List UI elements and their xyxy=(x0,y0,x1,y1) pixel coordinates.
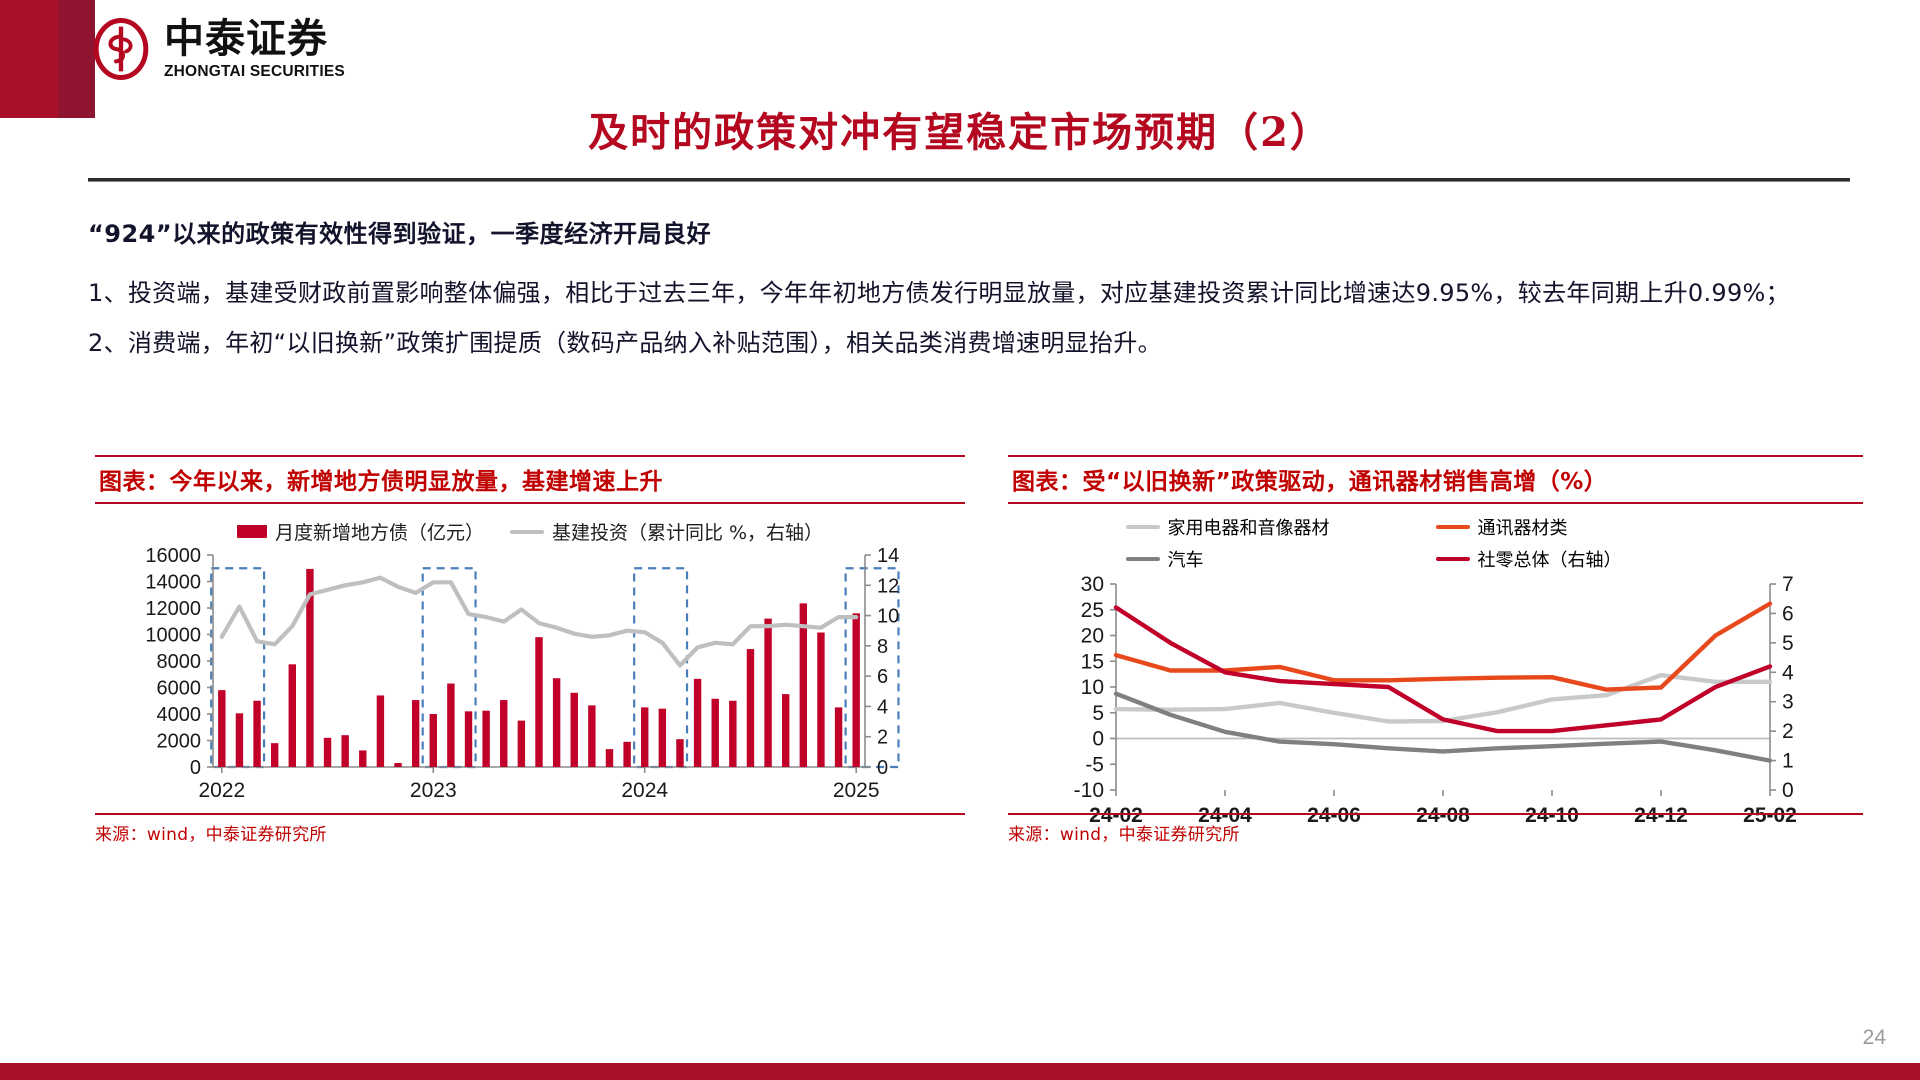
y-axis-tick-label: 20 xyxy=(1081,625,1104,648)
legend-label-automobile: 汽车 xyxy=(1168,546,1204,572)
x-axis-tick-label: 2023 xyxy=(410,779,457,802)
bar xyxy=(236,713,243,767)
chart-legend-right: 家用电器和音像器材 通讯器材类 汽车 社零总体（右轴） xyxy=(1008,514,1863,572)
legend-label-communication-equipment: 通讯器材类 xyxy=(1478,514,1568,540)
legend-swatch-line xyxy=(1436,525,1470,529)
y-axis-tick-label: 6000 xyxy=(157,678,202,700)
brand-name-cn: 中泰证券 xyxy=(164,19,345,59)
panel-source-right: 来源：wind，中泰证券研究所 xyxy=(1008,820,1863,845)
bar xyxy=(606,749,613,767)
brand-logo: 中泰证券 ZHONGTAI SECURITIES xyxy=(90,18,345,80)
bar xyxy=(764,619,771,767)
y-axis-tick-label: 16000 xyxy=(145,545,201,567)
y2-axis-tick-label: 6 xyxy=(877,666,888,688)
y-axis-tick-label: 12000 xyxy=(145,598,201,620)
y2-axis-tick-label: 7 xyxy=(1782,573,1794,596)
y-axis-tick-label: 2000 xyxy=(157,731,202,753)
paragraph-investment: 1、投资端，基建受财政前置影响整体偏强，相比于过去三年，今年年初地方债发行明显放… xyxy=(88,271,1850,315)
legend-swatch-line xyxy=(1126,557,1160,561)
y-axis-tick-label: 4000 xyxy=(157,704,202,726)
bar xyxy=(729,701,736,767)
y2-axis-tick-label: 14 xyxy=(877,545,899,567)
y-axis-tick-label: 5 xyxy=(1092,702,1104,725)
chart-canvas-left: 0200040006000800010000120001400016000024… xyxy=(95,545,965,820)
panel-source-left: 来源：wind，中泰证券研究所 xyxy=(95,820,965,845)
y2-axis-tick-label: 3 xyxy=(1782,691,1794,714)
panel-title-right: 图表：受“以旧换新”政策驱动，通讯器材销售高增（%） xyxy=(1012,462,1859,496)
panel-title-box-right: 图表：受“以旧换新”政策驱动，通讯器材销售高增（%） xyxy=(1008,455,1863,504)
bar xyxy=(394,763,401,767)
y-axis-tick-label: -5 xyxy=(1085,753,1104,776)
legend-swatch-line xyxy=(510,530,544,534)
bar xyxy=(712,699,719,767)
bar xyxy=(553,678,560,767)
bar xyxy=(571,693,578,767)
bar xyxy=(218,690,225,767)
line-series xyxy=(1116,694,1770,761)
y2-axis-tick-label: 6 xyxy=(1782,602,1794,625)
bar xyxy=(289,664,296,767)
bar xyxy=(341,735,348,767)
y-axis-tick-label: 0 xyxy=(1092,728,1104,751)
bar xyxy=(588,705,595,767)
y-axis-tick-label: 10000 xyxy=(145,625,201,647)
brand-name-en: ZHONGTAI SECURITIES xyxy=(164,64,345,80)
bar-line-chart-local-bond: 0200040006000800010000120001400016000024… xyxy=(95,545,965,815)
y-axis-tick-label: 25 xyxy=(1081,599,1104,622)
y2-axis-tick-label: 4 xyxy=(1782,661,1794,684)
legend-item-automobile: 汽车 xyxy=(1126,546,1436,572)
panel-source-box-left: 来源：wind，中泰证券研究所 xyxy=(95,813,965,845)
y-axis-tick-label: -10 xyxy=(1074,779,1104,802)
legend-label-infrastructure-investment: 基建投资（累计同比 %，右轴） xyxy=(552,518,823,545)
y2-axis-tick-label: 0 xyxy=(1782,779,1794,802)
chart-panel-retail-growth: 图表：受“以旧换新”政策驱动，通讯器材销售高增（%） 家用电器和音像器材 通讯器… xyxy=(1008,455,1863,845)
bar xyxy=(377,695,384,767)
bar xyxy=(359,750,366,767)
chart-panel-local-bond: 图表：今年以来，新增地方债明显放量，基建增速上升 月度新增地方债（亿元） 基建投… xyxy=(95,455,965,845)
y2-axis-tick-label: 10 xyxy=(877,606,899,628)
y-axis-tick-label: 14000 xyxy=(145,572,201,594)
bar xyxy=(518,721,525,767)
legend-swatch-line xyxy=(1436,557,1470,561)
bar xyxy=(500,700,507,767)
y2-axis-tick-label: 5 xyxy=(1782,632,1794,655)
bar xyxy=(482,711,489,767)
y2-axis-tick-label: 1 xyxy=(1782,750,1794,773)
panel-source-box-right: 来源：wind，中泰证券研究所 xyxy=(1008,813,1863,845)
y-axis-tick-label: 30 xyxy=(1081,573,1104,596)
x-axis-tick-label: 2024 xyxy=(621,779,668,802)
line-chart-retail-growth: -10-50510152025300123456724-0224-0424-06… xyxy=(1008,572,1863,840)
bar xyxy=(641,707,648,767)
bar xyxy=(430,714,437,767)
y2-axis-tick-label: 2 xyxy=(1782,720,1794,743)
bar xyxy=(535,637,542,767)
y2-axis-tick-label: 8 xyxy=(877,636,888,658)
bar xyxy=(253,701,260,767)
zhongtai-logo-icon xyxy=(90,18,152,80)
title-divider xyxy=(88,178,1850,182)
y-axis-tick-label: 15 xyxy=(1081,650,1104,673)
y2-axis-tick-label: 12 xyxy=(877,575,899,597)
bar xyxy=(782,694,789,767)
page-title: 及时的政策对冲有望稳定市场预期（2） xyxy=(0,100,1920,158)
legend-item-total-retail: 社零总体（右轴） xyxy=(1436,546,1746,572)
x-axis-tick-label: 2025 xyxy=(833,779,880,802)
legend-swatch-line xyxy=(1126,525,1160,529)
x-axis-tick-label: 2022 xyxy=(198,779,245,802)
y2-axis-tick-label: 0 xyxy=(877,757,888,779)
bar xyxy=(412,700,419,767)
bar xyxy=(676,739,683,767)
legend-swatch-bar xyxy=(237,525,267,538)
bar xyxy=(747,649,754,767)
chart-legend-left: 月度新增地方债（亿元） 基建投资（累计同比 %，右轴） xyxy=(95,518,965,545)
bar xyxy=(324,738,331,767)
bar xyxy=(623,742,630,767)
panel-title-left: 图表：今年以来，新增地方债明显放量，基建增速上升 xyxy=(99,462,961,496)
lead-statement: “924”以来的政策有效性得到验证，一季度经济开局良好 xyxy=(88,214,1850,249)
legend-item-communication-equipment: 通讯器材类 xyxy=(1436,514,1746,540)
y-axis-tick-label: 10 xyxy=(1081,676,1104,699)
legend-label-home-appliances: 家用电器和音像器材 xyxy=(1168,514,1330,540)
chart-canvas-right: -10-50510152025300123456724-0224-0424-06… xyxy=(1008,572,1863,845)
bar xyxy=(271,743,278,767)
bar xyxy=(465,711,472,767)
footer-accent-bar xyxy=(0,1063,1920,1080)
body-text-block: “924”以来的政策有效性得到验证，一季度经济开局良好 1、投资端，基建受财政前… xyxy=(88,198,1850,372)
line-series xyxy=(1116,604,1770,690)
bar xyxy=(835,707,842,767)
legend-label-monthly-local-bond: 月度新增地方债（亿元） xyxy=(275,518,484,545)
bar xyxy=(817,633,824,767)
legend-item-monthly-local-bond: 月度新增地方债（亿元） xyxy=(237,518,484,545)
y2-axis-tick-label: 4 xyxy=(877,696,888,718)
legend-item-home-appliances: 家用电器和音像器材 xyxy=(1126,514,1436,540)
paragraph-consumption: 2、消费端，年初“以旧换新”政策扩围提质（数码产品纳入补贴范围），相关品类消费增… xyxy=(88,321,1850,365)
bar xyxy=(659,709,666,767)
page-number: 24 xyxy=(1863,1026,1886,1050)
y-axis-tick-label: 8000 xyxy=(157,651,202,673)
y-axis-tick-label: 0 xyxy=(190,757,201,779)
bar xyxy=(694,679,701,767)
bar xyxy=(447,684,454,767)
legend-item-infrastructure-investment: 基建投资（累计同比 %，右轴） xyxy=(510,518,823,545)
y2-axis-tick-label: 2 xyxy=(877,727,888,749)
panel-title-box-left: 图表：今年以来，新增地方债明显放量，基建增速上升 xyxy=(95,455,965,504)
legend-label-total-retail: 社零总体（右轴） xyxy=(1478,546,1622,572)
bar xyxy=(852,613,859,767)
